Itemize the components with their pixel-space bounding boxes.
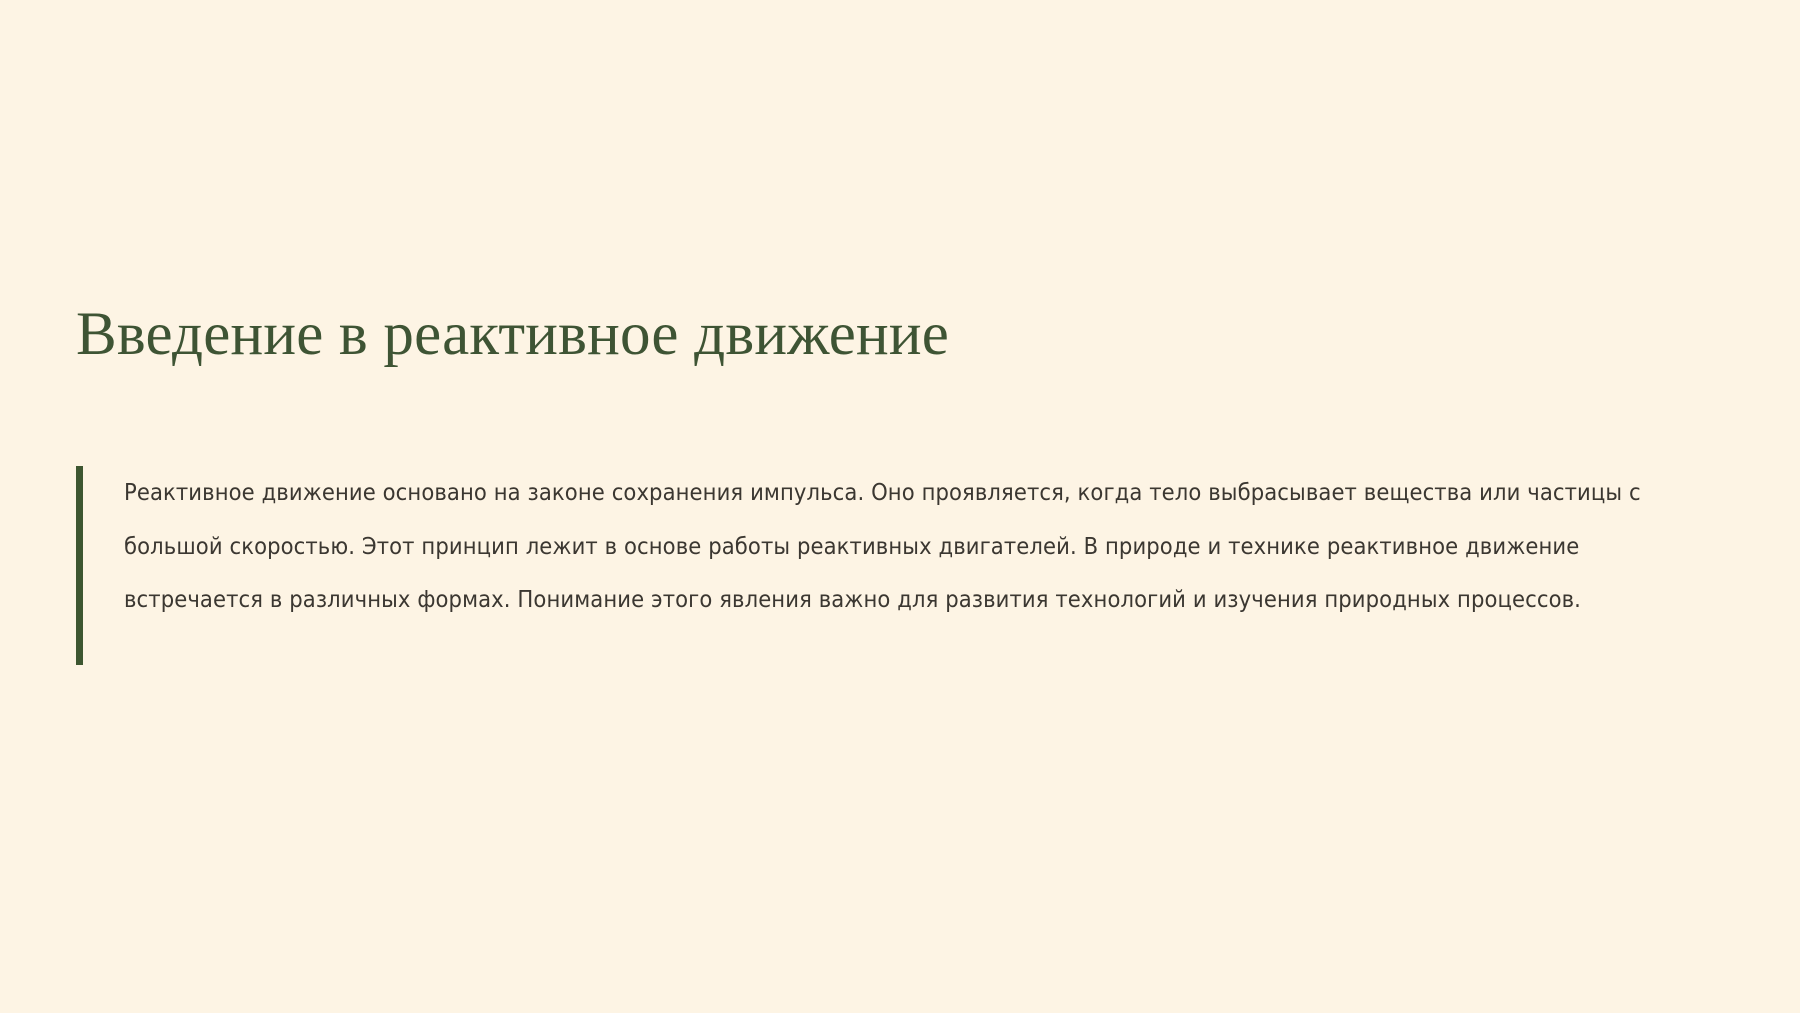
callout-block: Реактивное движение основано на законе с… xyxy=(76,466,1696,665)
accent-bar xyxy=(76,466,83,665)
body-paragraph: Реактивное движение основано на законе с… xyxy=(83,466,1696,665)
page-title: Введение в реактивное движение xyxy=(76,297,1676,373)
slide-canvas: Введение в реактивное движение Реактивно… xyxy=(0,0,1800,1013)
